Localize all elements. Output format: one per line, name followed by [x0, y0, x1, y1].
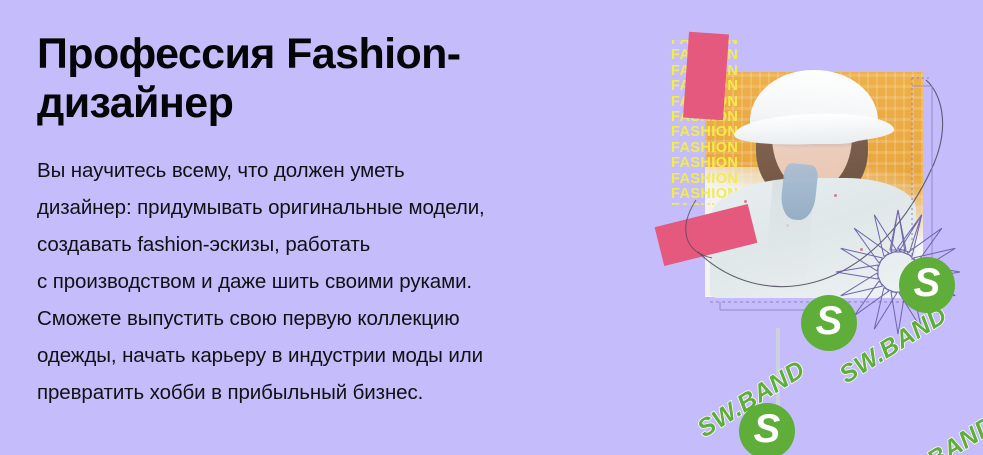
jacket-speck	[834, 194, 837, 197]
text-column: Профессия Fashion- дизайнер Вы научитесь…	[37, 30, 627, 411]
watermark-logo: S	[801, 295, 857, 351]
page-title: Профессия Fashion- дизайнер	[37, 30, 627, 128]
watermark-logo: S	[739, 403, 795, 455]
bucket-hat	[750, 70, 878, 144]
jacket-speck	[744, 200, 747, 203]
pink-tape-top	[683, 32, 729, 121]
hero-banner: Профессия Fashion- дизайнер Вы научитесь…	[0, 0, 983, 455]
watermark-text: SW.BAND	[883, 411, 983, 455]
hero-description: Вы научитесь всему, что должен уметь диз…	[37, 128, 627, 411]
jacket-speck	[786, 224, 789, 227]
watermark-logo: S	[899, 257, 955, 313]
watermark-layer: SW.BAND SW.BAND SW.BAND S S S S	[683, 235, 983, 455]
